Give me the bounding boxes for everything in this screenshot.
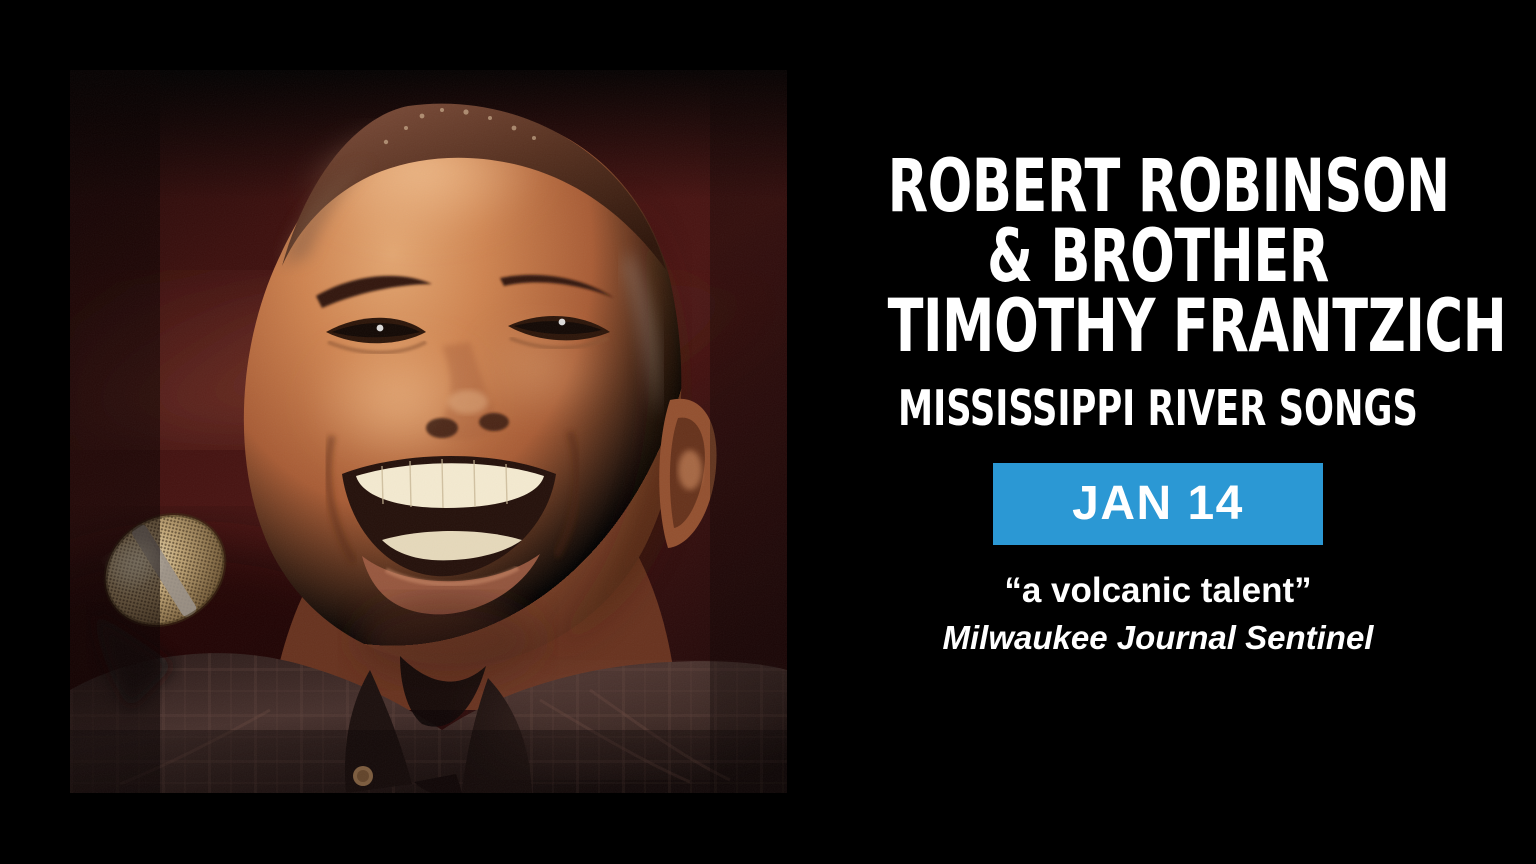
promo-poster: ROBERT ROBINSON & BROTHER TIMOTHY FRANTZ… (0, 0, 1536, 864)
pull-quote: “a volcanic talent” (1004, 570, 1311, 611)
headline: ROBERT ROBINSON & BROTHER TIMOTHY FRANTZ… (820, 152, 1496, 362)
headline-line-2: & BROTHER (888, 222, 1429, 292)
event-details: ROBERT ROBINSON & BROTHER TIMOTHY FRANTZ… (820, 70, 1496, 793)
artist-photo (70, 70, 787, 793)
date-badge-label: JAN 14 (1072, 480, 1244, 528)
artist-photo-illustration (70, 70, 787, 793)
program-subtitle: MISSISSIPPI RIVER SONGS (898, 384, 1418, 433)
headline-line-3: TIMOTHY FRANTZICH (888, 292, 1429, 362)
date-badge: JAN 14 (993, 463, 1323, 545)
headline-line-1: ROBERT ROBINSON (888, 152, 1429, 222)
pull-quote-attribution: Milwaukee Journal Sentinel (943, 619, 1374, 658)
